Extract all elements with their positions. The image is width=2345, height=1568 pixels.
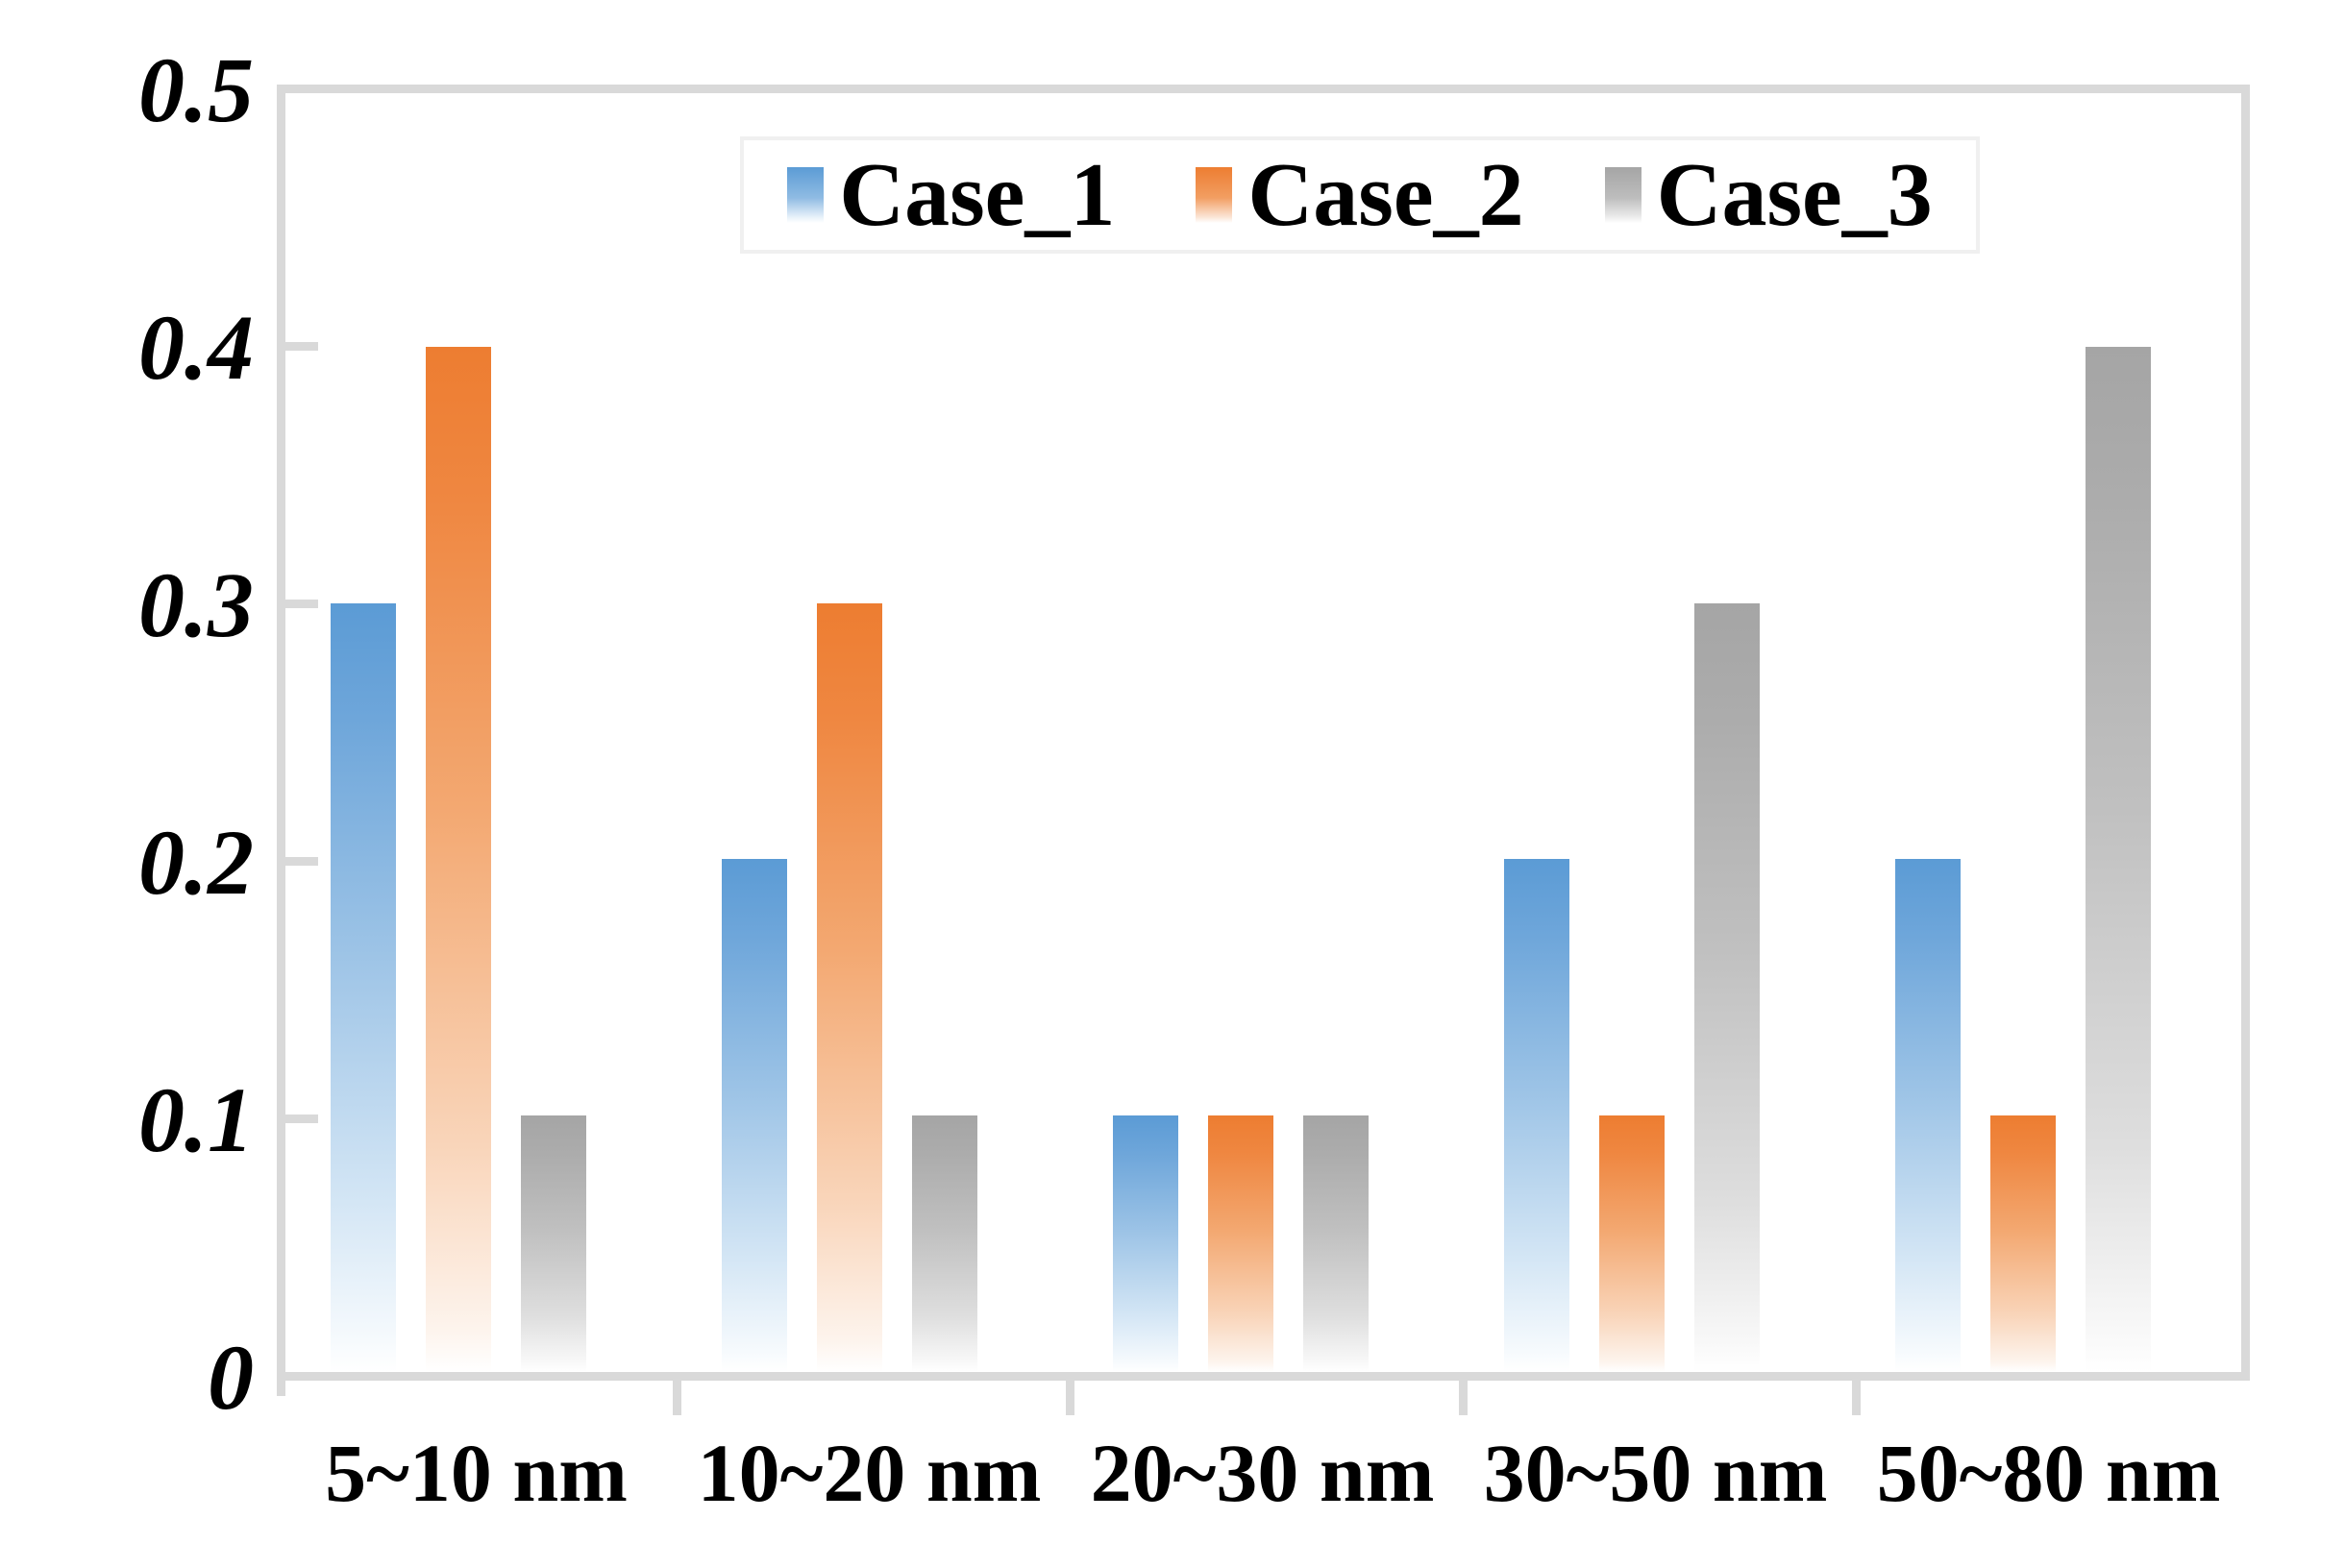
x-axis-label-20-30nm: 20~30 nm xyxy=(1066,1425,1459,1521)
legend-label-case-2: Case_2 xyxy=(1247,149,1523,241)
legend-item-case-2[interactable]: Case_2 xyxy=(1196,149,1523,241)
x-axis-line xyxy=(277,1372,2250,1381)
x-axis-label-10-20nm: 10~20 nm xyxy=(673,1425,1066,1521)
bar-case3-20-30nm xyxy=(1303,1115,1369,1372)
x-axis-label-50-80nm: 50~80 nm xyxy=(1852,1425,2245,1521)
legend-swatch-icon-case-3 xyxy=(1605,167,1641,223)
bar-case2-30-50nm xyxy=(1599,1115,1665,1372)
bar-case3-30-50nm xyxy=(1694,603,1760,1372)
bar-case3-5-10nm xyxy=(521,1115,586,1372)
bar-case1-5-10nm xyxy=(331,603,396,1372)
bar-case1-50-80nm xyxy=(1895,859,1961,1372)
legend-label-case-3: Case_3 xyxy=(1657,149,1933,241)
bar-case2-20-30nm xyxy=(1208,1115,1273,1372)
bar-case1-20-30nm xyxy=(1113,1115,1178,1372)
x-tick-sep-2 xyxy=(1066,1381,1074,1415)
bar-case3-10-20nm xyxy=(912,1115,977,1372)
x-axis-label-30-50nm: 30~50 nm xyxy=(1459,1425,1852,1521)
bar-case3-50-80nm xyxy=(2086,347,2151,1372)
legend-label-case-1: Case_1 xyxy=(839,149,1115,241)
x-tick-sep-3 xyxy=(1459,1381,1468,1415)
bar-chart: 0.5 0.4 0.3 0.2 0.1 0 xyxy=(0,0,2345,1568)
x-axis-label-5-10nm: 5~10 nm xyxy=(280,1425,673,1521)
legend-item-case-1[interactable]: Case_1 xyxy=(787,149,1115,241)
bar-case2-50-80nm xyxy=(1990,1115,2056,1372)
bar-case1-10-20nm xyxy=(722,859,787,1372)
x-tick-sep-1 xyxy=(673,1381,681,1415)
bar-case2-10-20nm xyxy=(817,603,882,1372)
x-tick-sep-4 xyxy=(1852,1381,1861,1415)
legend-item-case-3[interactable]: Case_3 xyxy=(1605,149,1933,241)
chart-legend: Case_1 Case_2 Case_3 xyxy=(740,136,1980,254)
legend-swatch-icon-case-1 xyxy=(787,167,824,223)
bar-case1-30-50nm xyxy=(1504,859,1569,1372)
legend-swatch-icon-case-2 xyxy=(1196,167,1232,223)
bar-case2-5-10nm xyxy=(426,347,491,1372)
